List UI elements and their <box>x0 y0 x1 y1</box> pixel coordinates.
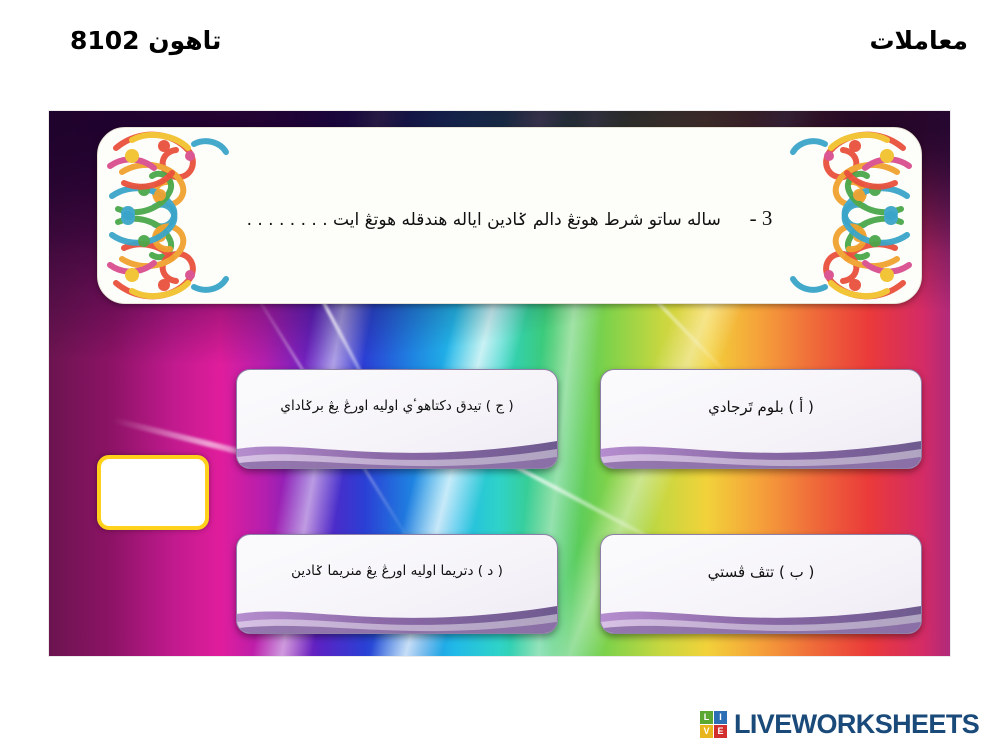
question-text: ساله ساتو شرط هوتڠ دالم ݢادين اياله هندق… <box>247 210 721 230</box>
question-line: 3 - ساله ساتو شرط هوتڠ دالم ݢادين اياله … <box>98 206 921 231</box>
logo-tiles-icon: L I V E <box>700 711 727 738</box>
card-swoosh-decoration <box>600 434 922 469</box>
logo-tile-e: E <box>714 725 727 738</box>
floral-ornament-icon <box>102 127 232 272</box>
floral-ornament-icon <box>787 159 917 304</box>
card-swoosh-decoration <box>236 434 558 469</box>
logo-wordmark: LIVEWORKSHEETS <box>734 709 979 740</box>
liveworksheets-logo: L I V E LIVEWORKSHEETS <box>700 709 979 740</box>
option-card-d[interactable]: ( د ) دتريما اوليه اورڠ يڠ منريما ݢادين <box>236 534 558 634</box>
logo-tile-l: L <box>700 711 713 724</box>
option-d-label: ( د ) دتريما اوليه اورڠ يڠ منريما ݢادين <box>247 563 547 579</box>
page-header: تاهون 2018 معاملات <box>0 0 1000 100</box>
question-number: 3 - <box>750 206 773 230</box>
logo-tile-v: V <box>700 725 713 738</box>
floral-ornament-icon <box>787 127 917 272</box>
card-swoosh-decoration <box>600 599 922 634</box>
floral-ornament-icon <box>102 159 232 304</box>
header-year-label: تاهون 2018 <box>70 26 221 55</box>
worksheet-slide: 3 - ساله ساتو شرط هوتڠ دالم ݢادين اياله … <box>49 111 950 656</box>
card-swoosh-decoration <box>236 599 558 634</box>
answer-input[interactable] <box>97 455 209 530</box>
option-c-label: ( ج ) تيدق دكتاهوٴي اوليه اورڠ يڠ برݢادا… <box>247 398 547 414</box>
option-a-label: ( أ ) بلوم تَرجادي <box>611 398 911 416</box>
option-card-b[interactable]: ( ب ) تتڤ ڤستي <box>600 534 922 634</box>
question-card: 3 - ساله ساتو شرط هوتڠ دالم ݢادين اياله … <box>97 127 922 304</box>
header-subject-label: معاملات <box>869 26 968 55</box>
option-card-a[interactable]: ( أ ) بلوم تَرجادي <box>600 369 922 469</box>
option-b-label: ( ب ) تتڤ ڤستي <box>611 563 911 581</box>
logo-tile-i: I <box>714 711 727 724</box>
option-card-c[interactable]: ( ج ) تيدق دكتاهوٴي اوليه اورڠ يڠ برݢادا… <box>236 369 558 469</box>
